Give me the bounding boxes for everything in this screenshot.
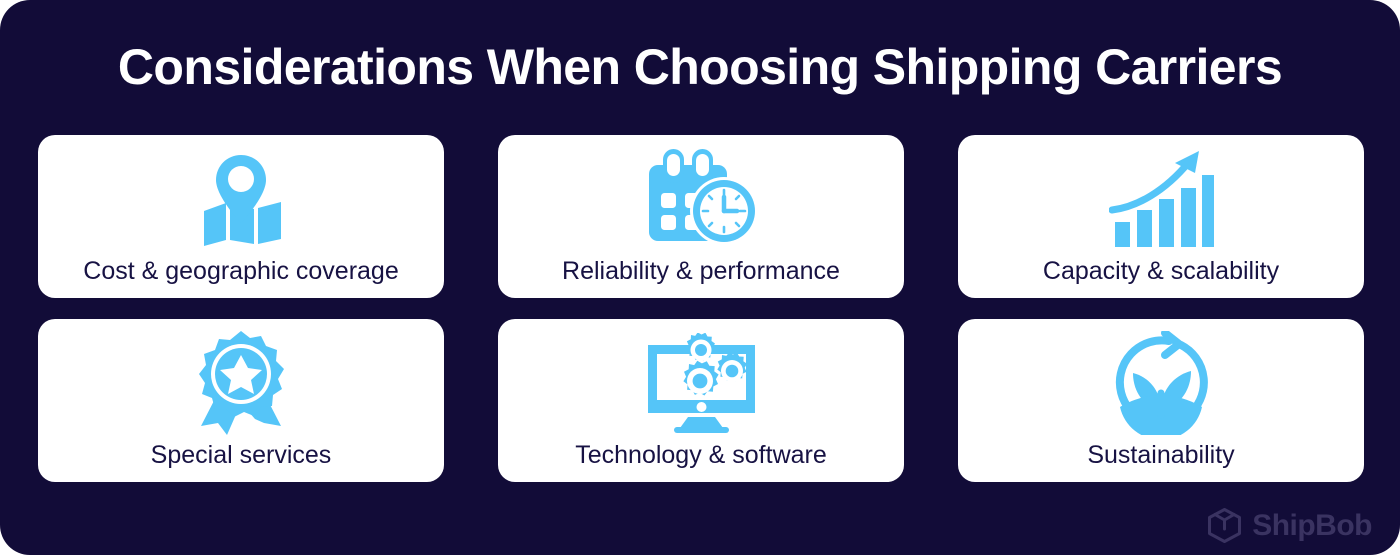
shipbob-wordmark: ShipBob	[1252, 511, 1372, 541]
award-ribbon-icon	[191, 333, 291, 433]
card-special-services[interactable]: Special services	[38, 319, 444, 482]
card-label: Special services	[151, 443, 332, 468]
map-pin-icon	[186, 149, 296, 249]
growth-chart-icon	[1109, 149, 1214, 249]
card-label: Reliability & performance	[562, 259, 840, 284]
card-label: Cost & geographic coverage	[83, 259, 398, 284]
shipbob-logo[interactable]: ShipBob	[1208, 508, 1372, 543]
card-label: Sustainability	[1087, 443, 1234, 468]
card-cost-geographic-coverage[interactable]: Cost & geographic coverage	[38, 135, 444, 298]
card-sustainability[interactable]: Sustainability	[958, 319, 1364, 482]
card-label: Technology & software	[575, 443, 827, 468]
card-label: Capacity & scalability	[1043, 259, 1279, 284]
monitor-gears-icon	[644, 333, 759, 433]
consideration-card-grid: Cost & geographic coverage	[38, 135, 1364, 482]
card-reliability-performance[interactable]: Reliability & performance	[498, 135, 904, 298]
infographic-canvas: Considerations When Choosing Shipping Ca…	[0, 0, 1400, 555]
recycle-sprout-icon	[1109, 333, 1213, 433]
card-capacity-scalability[interactable]: Capacity & scalability	[958, 135, 1364, 298]
card-technology-software[interactable]: Technology & software	[498, 319, 904, 482]
shipbob-box-icon	[1208, 508, 1241, 543]
page-title: Considerations When Choosing Shipping Ca…	[0, 40, 1400, 95]
calendar-clock-icon	[641, 149, 761, 249]
